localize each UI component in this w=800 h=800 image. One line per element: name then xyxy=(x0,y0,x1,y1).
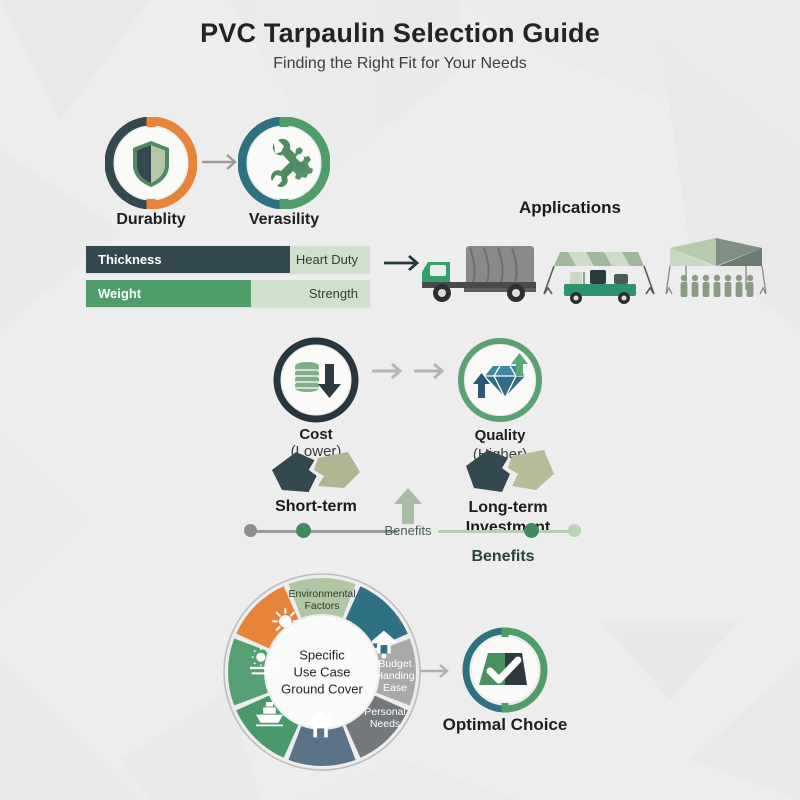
long-term-slider-track[interactable] xyxy=(438,530,576,533)
long-term-slider-thumb[interactable] xyxy=(524,523,539,538)
versatility-label: Verasility xyxy=(238,211,330,229)
cost-ring xyxy=(272,336,360,424)
cost-badge[interactable]: Cost (Lower) xyxy=(272,336,360,429)
bar-weight-value: Strength xyxy=(309,280,358,307)
wheel-center-text: Specific Use Case Ground Cover xyxy=(262,647,382,698)
header: PVC Tarpaulin Selection Guide Finding th… xyxy=(0,18,800,73)
bar-thickness-value: Heart Duty xyxy=(296,246,358,273)
personal-line1: Personal xyxy=(354,706,416,718)
quality-ring xyxy=(456,336,544,424)
wheel-center-line-3: Ground Cover xyxy=(262,681,382,698)
optimal-choice-label: Optimal Choice xyxy=(425,715,585,735)
short-term-slider-track[interactable] xyxy=(250,530,398,533)
wheel-center-line-1: Specific xyxy=(262,647,382,664)
short-term-label: Short-term xyxy=(258,498,374,516)
market-stall-truck-icon xyxy=(544,252,654,304)
cost-arrow-2-icon xyxy=(412,360,452,382)
cost-arrow-1-icon xyxy=(370,360,410,382)
long-term-torn-fabric-icon xyxy=(462,448,558,496)
env-line1: Environmental xyxy=(270,588,374,600)
bar-thickness[interactable]: Thickness Heart Duty xyxy=(86,246,370,273)
applications-illustrations xyxy=(418,232,788,312)
versatility-ring xyxy=(238,117,330,209)
cost-label-bold: Cost xyxy=(299,426,332,443)
infographic-canvas: PVC Tarpaulin Selection Guide Finding th… xyxy=(0,0,800,800)
applications-title: Applications xyxy=(470,198,670,218)
short-term-slider-thumb[interactable] xyxy=(296,523,311,538)
attribute-bars: Thickness Heart Duty Weight Strength xyxy=(86,246,370,314)
optimal-choice-ring xyxy=(462,627,548,713)
quality-label-bold: Quality xyxy=(456,426,544,445)
long-term-slider-end-dot[interactable] xyxy=(568,524,581,537)
short-term-torn-fabric-icon xyxy=(268,448,364,496)
bar-weight[interactable]: Weight Strength xyxy=(86,280,370,307)
bar-weight-label: Weight xyxy=(86,286,141,301)
durability-ring xyxy=(105,117,197,209)
budget-line1: Budget xyxy=(368,658,422,670)
budget-line2: Handing xyxy=(368,670,422,682)
optimal-choice-badge[interactable]: Optimal Choice xyxy=(462,627,548,718)
page-title: PVC Tarpaulin Selection Guide xyxy=(0,18,800,49)
wheel-segment-label-personal: Personal Needs xyxy=(354,706,416,730)
wheel-segment-label-environmental: Environmental Factors xyxy=(270,588,374,612)
sun-icon xyxy=(273,609,298,634)
benefits-mid-label: Benefits xyxy=(378,523,438,538)
event-tent-crowd-icon xyxy=(666,238,766,297)
durability-label: Durablity xyxy=(105,211,197,229)
quality-badge[interactable]: Quality (Higher) xyxy=(456,336,544,429)
personal-line2: Needs xyxy=(354,718,416,730)
short-term-slider-start-dot[interactable] xyxy=(244,524,257,537)
bar-thickness-label: Thickness xyxy=(86,252,162,267)
long-term-slider[interactable] xyxy=(434,520,582,542)
durability-badge[interactable]: Durablity xyxy=(105,117,197,214)
wheel-segment-label-budget: Budget Handing Ease xyxy=(368,658,422,694)
page-subtitle: Finding the Right Fit for Your Needs xyxy=(0,55,800,73)
budget-line3: Ease xyxy=(368,682,422,694)
benefits-bottom-label: Benefits xyxy=(438,548,568,566)
long-term-label-line1: Long-term xyxy=(438,498,578,518)
wheel-center-line-2: Use Case xyxy=(262,664,382,681)
optimal-choice-arrow-icon xyxy=(418,660,458,682)
tarp-truck-icon xyxy=(422,246,536,302)
versatility-badge[interactable]: Verasility xyxy=(238,117,330,214)
env-line2: Factors xyxy=(270,600,374,612)
use-case-wheel[interactable]: Specific Use Case Ground Cover Environme… xyxy=(222,572,422,772)
